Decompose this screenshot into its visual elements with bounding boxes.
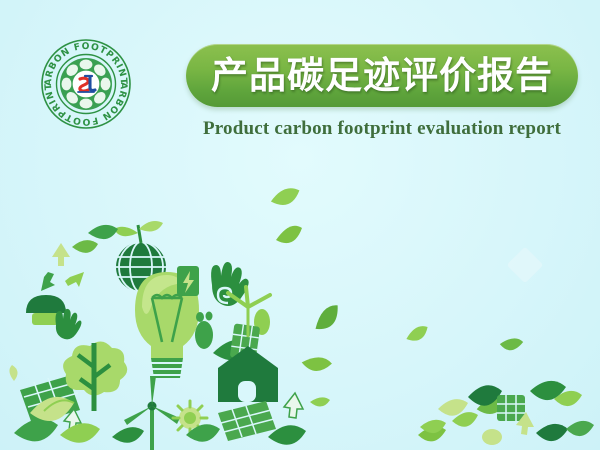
- page-title: 产品碳足迹评价报告: [211, 57, 553, 94]
- carbon-footprint-seal-logo: CARBON FOOTPRINT · CARBON FOOTPRINT ·: [40, 38, 132, 130]
- eco-icons-footprint-illustration: [0, 185, 600, 450]
- hand-icon: [211, 262, 249, 306]
- lightbulb-base: [151, 358, 183, 378]
- solar-panel-icon: [497, 395, 525, 421]
- leaf-icon: [530, 381, 582, 406]
- sprout-icon: [114, 221, 163, 243]
- hand-icon: [56, 309, 82, 339]
- leaf-icon: [72, 225, 118, 253]
- leaf-icon: [420, 420, 594, 441]
- page-subtitle: Product carbon footprint evaluation repo…: [186, 118, 578, 140]
- footprint-icon: [482, 429, 502, 445]
- recycle-icon: [284, 393, 303, 418]
- battery-icon: [177, 266, 199, 296]
- report-title-banner: 产品碳足迹评价报告: [186, 44, 578, 107]
- report-cover-page: CARBON FOOTPRINT · CARBON FOOTPRINT ·: [0, 0, 600, 450]
- solar-panel-icon: [218, 401, 276, 441]
